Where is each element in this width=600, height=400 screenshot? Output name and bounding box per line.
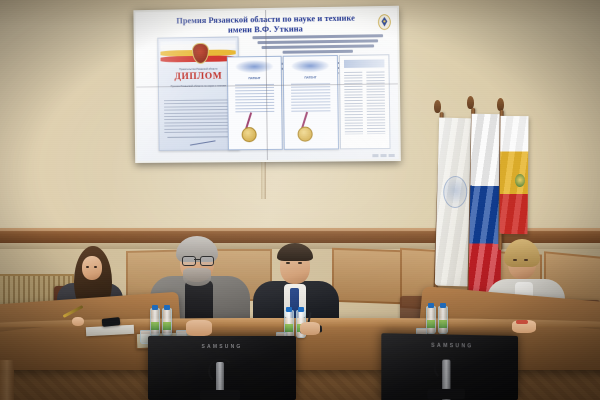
scene-lighting — [0, 0, 600, 400]
woman-left-face — [82, 256, 102, 280]
woman-left-hand — [72, 317, 84, 326]
conference-room-photo: Премия Рязанской области по науке и техн… — [0, 0, 600, 400]
woman-right-eye-left — [513, 259, 517, 261]
man-suit-hands — [300, 322, 320, 335]
woman-left-eye-right — [94, 266, 97, 268]
nail-polish-accent — [516, 320, 528, 324]
man-glasses-clasped-hands — [186, 320, 212, 336]
woman-left-eye-left — [86, 266, 89, 268]
woman-right-eye-right — [524, 259, 528, 261]
